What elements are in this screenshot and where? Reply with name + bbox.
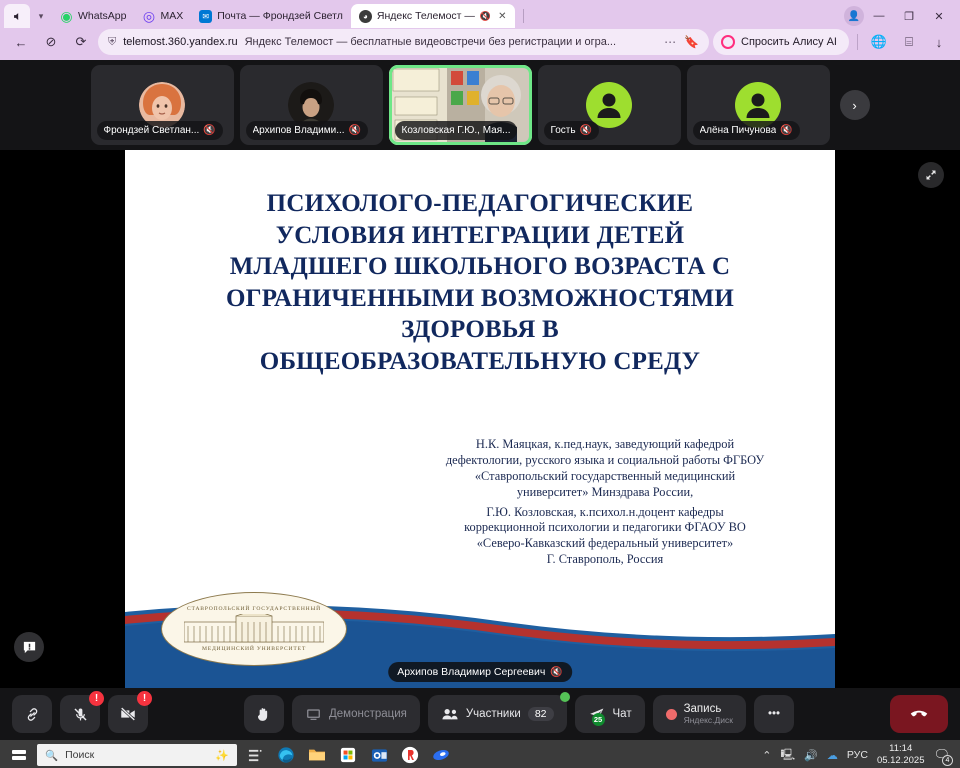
expand-arrows-icon xyxy=(925,169,937,181)
mic-off-icon xyxy=(72,706,89,723)
chat-label: Чат xyxy=(613,708,632,720)
telemost-icon[interactable] xyxy=(428,742,454,768)
participant-name: Фрондзей Светлан... xyxy=(104,125,200,136)
feedback-icon[interactable] xyxy=(14,632,44,662)
language-indicator[interactable]: РУС xyxy=(847,749,868,761)
tab-mute-icon[interactable]: 🔇 xyxy=(480,11,491,22)
tab-telemost[interactable]: ◕ Яндекс Телемост — 🔇 ✕ xyxy=(351,4,515,28)
tab-label: MAX xyxy=(160,10,183,22)
participant-name: Гость xyxy=(551,125,576,136)
speaker-icon xyxy=(12,11,23,22)
yandex-browser-icon[interactable] xyxy=(397,742,423,768)
hand-icon xyxy=(255,706,272,723)
active-speaker-chip: Архипов Владимир Сергеевич 🔇 xyxy=(388,662,572,682)
author-line: Н.К. Маяцкая, к.пед.наук, заведующий каф… xyxy=(395,437,815,453)
copilot-sparkle-icon: ✨ xyxy=(215,749,229,762)
tab-dropdown-arrow[interactable]: ▾ xyxy=(30,4,52,28)
omnibox[interactable]: ⛨ telemost.360.yandex.ru Яндекс Телемост… xyxy=(98,29,709,55)
clock-time: 11:14 xyxy=(877,743,925,755)
mic-off-icon: 🔇 xyxy=(349,125,361,136)
participant-name-chip: Архипов Владими... 🔇 xyxy=(246,121,369,140)
search-icon: 🔍 xyxy=(45,749,58,762)
alice-label: Спросить Алису AI xyxy=(741,36,837,48)
volume-icon[interactable]: 🔊 xyxy=(804,749,818,762)
extensions-icon[interactable]: ⌸ xyxy=(896,29,922,55)
university-building-icon xyxy=(184,614,324,644)
tab-divider xyxy=(523,9,524,23)
telemost-glyph xyxy=(432,747,450,763)
clock[interactable]: 11:14 05.12.2025 xyxy=(877,743,925,767)
tab-label: WhatsApp xyxy=(78,10,126,22)
clock-date: 05.12.2025 xyxy=(877,755,925,767)
browser-chrome: ▾ ◉ WhatsApp ◎ MAX ✉ Почта — Фрондзей Св… xyxy=(0,0,960,60)
feedback-bubble-icon xyxy=(22,640,37,655)
windows-taskbar: 🔍 Поиск ✨ xyxy=(0,740,960,768)
slide-title-line: ЗДОРОВЬЯ В xyxy=(151,314,809,346)
notification-count-badge: 4 xyxy=(942,755,953,766)
slide-title-line: ОБЩЕОБРАЗОВАТЕЛЬНУЮ СРЕДУ xyxy=(151,346,809,378)
mic-off-icon: 🔇 xyxy=(780,125,792,136)
task-view-icon[interactable] xyxy=(242,742,268,768)
share-screen-button[interactable]: Демонстрация xyxy=(292,695,420,733)
profile-avatar[interactable]: 👤 xyxy=(844,6,864,26)
record-label: Запись xyxy=(684,703,733,716)
participant-thumbnail-active-speaker[interactable]: Козловская Г.Ю., Мая... xyxy=(389,65,532,145)
omnibox-more-icon[interactable]: ⋯ xyxy=(664,35,677,49)
author-line: Г. Ставрополь, Россия xyxy=(395,552,815,568)
author-line: «Ставропольский государственный медицинс… xyxy=(395,469,815,485)
presentation-stage: ПСИХОЛОГО-ПЕДАГОГИЧЕСКИЕ УСЛОВИЯ ИНТЕГРА… xyxy=(0,150,960,688)
toolbar-center-group: Демонстрация Участники 82 25 Чат xyxy=(244,695,794,733)
author-line: коррекционной психологии и педагогики ФГ… xyxy=(395,520,815,536)
search-input[interactable]: 🔍 Поиск ✨ xyxy=(37,744,237,766)
tab-whatsapp[interactable]: ◉ WhatsApp xyxy=(52,4,134,28)
participants-label: Участники xyxy=(466,708,521,720)
fullscreen-icon[interactable] xyxy=(918,162,944,188)
logo-bottom-text: МЕДИЦИНСКИЙ УНИВЕРСИТЕТ xyxy=(202,646,306,652)
back-button[interactable]: ← xyxy=(8,29,34,55)
participant-thumbnail[interactable]: Архипов Владими... 🔇 xyxy=(240,65,383,145)
tab-mail[interactable]: ✉ Почта — Фрондзей Светл xyxy=(191,4,351,28)
tray-overflow-icon[interactable]: ⌃ xyxy=(762,749,771,762)
globe-icon[interactable]: 🌐 xyxy=(866,29,892,55)
tab-strip: ▾ ◉ WhatsApp ◎ MAX ✉ Почта — Фрондзей Св… xyxy=(0,0,960,28)
start-button[interactable] xyxy=(6,747,32,763)
microsoft-store-icon[interactable] xyxy=(335,742,361,768)
chat-button[interactable]: 25 Чат xyxy=(575,695,645,733)
maximize-button[interactable]: ❐ xyxy=(894,4,924,28)
participants-button[interactable]: Участники 82 xyxy=(428,695,567,733)
link-icon xyxy=(24,706,41,723)
task-view-glyph xyxy=(248,748,263,763)
yandex-glyph xyxy=(401,746,419,764)
next-participants-button[interactable]: › xyxy=(840,90,870,120)
participant-name-chip: Алёна Пичунова 🔇 xyxy=(693,121,800,140)
alice-icon xyxy=(721,35,735,49)
edge-icon[interactable] xyxy=(273,742,299,768)
mic-off-icon: 🔇 xyxy=(550,667,562,678)
author-line: «Северо-Кавказский федеральный университ… xyxy=(395,536,815,552)
participants-count: 82 xyxy=(528,707,554,721)
raise-hand-button[interactable] xyxy=(244,695,284,733)
author-line: Г.Ю. Козловская, к.психол.н.доцент кафед… xyxy=(395,505,815,521)
record-destination: Яндекс.Диск xyxy=(684,716,733,726)
close-icon[interactable]: ✕ xyxy=(498,11,506,22)
meeting-app: Фрондзей Светлан... 🔇 Архипов Владими...… xyxy=(0,60,960,740)
folder-glyph xyxy=(308,747,326,763)
logo-top-text: СТАВРОПОЛЬСКИЙ ГОСУДАРСТВЕННЫЙ xyxy=(187,606,321,612)
slide-title-line: МЛАДШЕГО ШКОЛЬНОГО ВОЗРАСТА С xyxy=(151,251,809,283)
author-line: дефектологии, русского языка и социально… xyxy=(395,453,815,469)
ask-alice-button[interactable]: Спросить Алису AI xyxy=(713,29,849,55)
store-glyph xyxy=(340,747,356,763)
participant-thumbnails: Фрондзей Светлан... 🔇 Архипов Владими...… xyxy=(0,60,960,150)
search-placeholder: Поиск xyxy=(65,749,94,761)
notifications-icon[interactable]: 🗨 4 xyxy=(933,747,950,763)
participant-name-chip: Козловская Г.Ю., Мая... xyxy=(395,121,518,140)
participant-name-chip: Фрондзей Светлан... 🔇 xyxy=(97,121,223,140)
copy-link-button[interactable] xyxy=(12,695,52,733)
edge-glyph xyxy=(277,746,295,764)
speaker-name: Архипов Владимир Сергеевич xyxy=(397,666,545,678)
address-bar: ← ⊘ ⟳ ⛨ telemost.360.yandex.ru Яндекс Те… xyxy=(0,28,960,60)
record-button[interactable]: Запись Яндекс.Диск xyxy=(653,695,746,733)
meeting-toolbar: ! ! Демонст xyxy=(0,688,960,740)
whatsapp-icon: ◉ xyxy=(60,10,73,23)
screen-share-icon xyxy=(305,706,322,723)
tab-max[interactable]: ◎ MAX xyxy=(134,4,191,28)
tab-label: Яндекс Телемост — xyxy=(377,10,475,22)
tab-list-button[interactable] xyxy=(4,4,30,28)
hangup-button[interactable] xyxy=(890,695,948,733)
participant-name-chip: Гость 🔇 xyxy=(544,121,600,140)
max-icon: ◎ xyxy=(142,10,155,23)
camera-alert-badge: ! xyxy=(137,691,152,706)
slide-authors: Н.К. Маяцкая, к.пед.наук, заведующий каф… xyxy=(395,437,815,568)
participant-thumbnail[interactable]: Гость 🔇 xyxy=(538,65,681,145)
tab-label: Почта — Фрондзей Светл xyxy=(217,10,343,22)
mic-off-icon: 🔇 xyxy=(203,125,215,136)
slide-title-line: УСЛОВИЯ ИНТЕГРАЦИИ ДЕТЕЙ xyxy=(151,220,809,252)
telemost-icon: ◕ xyxy=(359,10,372,23)
online-indicator xyxy=(560,692,570,702)
mic-alert-badge: ! xyxy=(89,691,104,706)
chat-unread-badge: 25 xyxy=(592,713,605,726)
file-explorer-icon[interactable] xyxy=(304,742,330,768)
close-window-button[interactable]: ✕ xyxy=(924,4,954,28)
mic-off-icon: 🔇 xyxy=(580,125,592,136)
record-dot-icon xyxy=(666,709,677,720)
windows-logo-icon xyxy=(11,747,27,763)
url-text: telemost.360.yandex.ru xyxy=(123,36,237,48)
author-line: университет» Минздрава России, xyxy=(395,485,815,501)
university-logo: СТАВРОПОЛЬСКИЙ ГОСУДАРСТВЕННЫЙ xyxy=(161,592,347,666)
participant-name: Архипов Владими... xyxy=(253,125,345,136)
participant-thumbnail[interactable]: Алёна Пичунова 🔇 xyxy=(687,65,830,145)
camera-button[interactable]: ! xyxy=(108,695,148,733)
more-options-button[interactable]: ••• xyxy=(754,695,794,733)
reload-button[interactable]: ⟳ xyxy=(68,29,94,55)
phone-hangup-icon xyxy=(908,703,930,725)
slide-title-line: ПСИХОЛОГО-ПЕДАГОГИЧЕСКИЕ xyxy=(151,188,809,220)
share-label: Демонстрация xyxy=(329,708,407,720)
downloads-icon[interactable]: ↓ xyxy=(926,29,952,55)
toolbar-divider xyxy=(857,34,858,50)
page-title-text: Яндекс Телемост — бесплатные видеовстреч… xyxy=(245,36,657,48)
outlook-icon[interactable] xyxy=(366,742,392,768)
participants-icon xyxy=(441,706,459,723)
shield-icon: ⛨ xyxy=(108,36,116,49)
outlook-glyph xyxy=(371,747,388,764)
outlook-icon: ✉ xyxy=(199,10,212,23)
microphone-button[interactable]: ! xyxy=(60,695,100,733)
participant-name: Козловская Г.Ю., Мая... xyxy=(402,125,511,136)
network-icon[interactable]: 🖳 xyxy=(781,746,796,765)
minimize-button[interactable]: — xyxy=(864,4,894,28)
system-tray: ⌃ 🖳 🔊 ☁ РУС 11:14 05.12.2025 🗨 4 xyxy=(762,743,954,767)
ad-block-icon[interactable]: ⊘ xyxy=(38,29,64,55)
participant-name: Алёна Пичунова xyxy=(700,125,777,136)
shared-slide: ПСИХОЛОГО-ПЕДАГОГИЧЕСКИЕ УСЛОВИЯ ИНТЕГРА… xyxy=(125,150,835,688)
building-icon xyxy=(184,614,324,644)
cloud-icon[interactable]: ☁ xyxy=(827,749,838,762)
participant-thumbnail[interactable]: Фрондзей Светлан... 🔇 xyxy=(91,65,234,145)
slide-title-line: ОГРАНИЧЕННЫМИ ВОЗМОЖНОСТЯМИ xyxy=(151,283,809,315)
record-text: Запись Яндекс.Диск xyxy=(684,703,733,726)
camera-off-icon xyxy=(119,705,137,723)
bookmark-icon[interactable]: 🔖 xyxy=(684,35,699,49)
slide-title: ПСИХОЛОГО-ПЕДАГОГИЧЕСКИЕ УСЛОВИЯ ИНТЕГРА… xyxy=(125,188,835,377)
